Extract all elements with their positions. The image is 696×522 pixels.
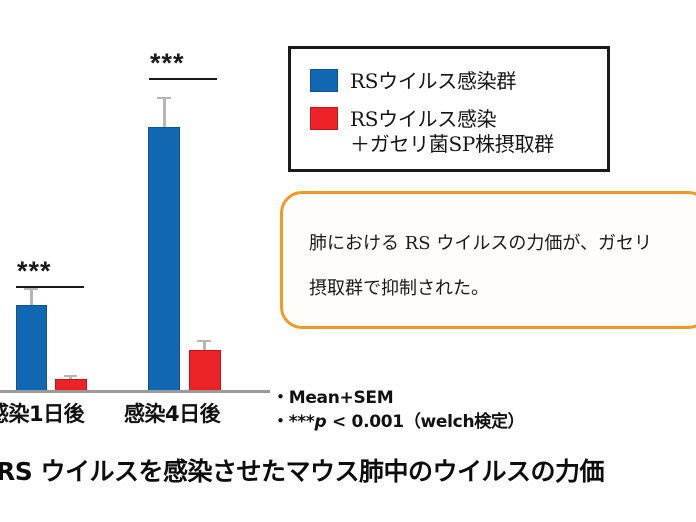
bar-day4-gasseri [189,350,221,392]
x-axis-baseline [0,390,270,393]
legend-label-gasseri-line2: ＋ガセリ菌SP株摂取群 [350,132,554,157]
figure-screenshot: *** *** 感染1日後 感染4日後 RSウイルス感染群 [0,0,696,522]
error-bar-cap-day4-gasseri [197,340,211,342]
bar-day4-infected [148,127,180,392]
error-bar-cap-day1-infected [24,288,38,290]
chart-legend: RSウイルス感染群 RSウイルス感染 ＋ガセリ菌SP株摂取群 [288,46,610,172]
note-mean-sem: ・Mean+SEM [272,383,393,408]
bar-day1-infected [16,305,47,392]
significance-underline-group-2 [149,78,217,80]
legend-label-infected: RSウイルス感染群 [350,69,516,94]
significance-stars-group-2: *** [150,50,185,77]
x-tick-label-day4: 感染4日後 [124,398,220,428]
x-tick-label-day1: 感染1日後 [0,398,84,428]
error-bar-cap-day4-infected [157,97,171,99]
error-bar-line-day4-infected [163,97,166,130]
note-pvalue-suffix: < 0.001（welch検定） [326,412,524,432]
legend-item-gasseri: RSウイルス感染 ＋ガセリ菌SP株摂取群 [310,107,554,157]
note-pvalue-italic: p [314,412,326,432]
note-pvalue-prefix: ・*** [272,412,314,432]
legend-item-infected: RSウイルス感染群 [310,69,516,94]
bar-chart: *** *** 感染1日後 感染4日後 [0,0,270,400]
significance-stars-group-1: *** [17,258,52,285]
legend-swatch-blue-icon [310,69,338,92]
callout-box: 肺における RS ウイルスの力価が、ガセリ 摂取群で抑制された。 [280,191,696,329]
legend-label-gasseri-line1: RSウイルス感染 [350,107,554,132]
callout-line-2: 摂取群で抑制された。 [309,274,489,300]
legend-swatch-red-icon [310,107,338,130]
figure-title: RS ウイルスを感染させたマウス肺中のウイルスの力価 [0,452,604,488]
legend-label-gasseri-block: RSウイルス感染 ＋ガセリ菌SP株摂取群 [350,107,554,157]
error-bar-cap-day1-gasseri [64,375,77,377]
callout-line-1: 肺における RS ウイルスの力価が、ガセリ [309,229,652,255]
note-pvalue: ・***p < 0.001（welch検定） [272,407,524,432]
